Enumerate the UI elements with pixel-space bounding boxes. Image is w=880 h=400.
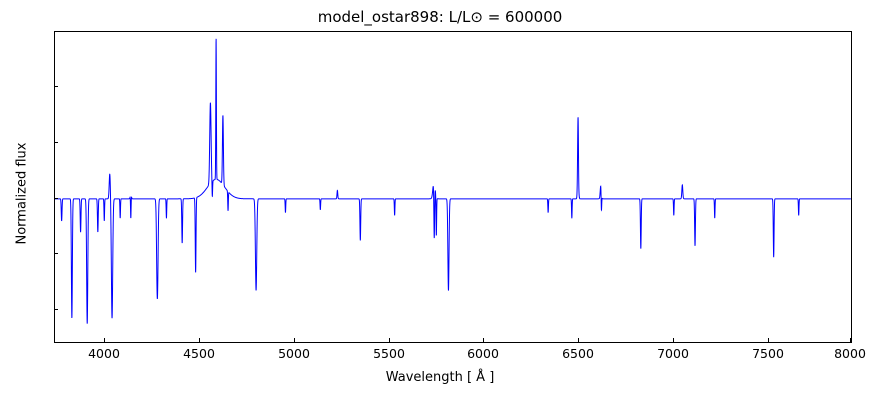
xtick-mark <box>483 338 484 342</box>
ytick-mark <box>54 198 58 199</box>
ytick-mark <box>54 142 58 143</box>
x-axis-label: Wavelength [ Å ] <box>0 370 880 385</box>
xtick-label-4000: 4000 <box>88 346 120 361</box>
xtick-label-4500: 4500 <box>183 346 215 361</box>
xtick-mark <box>673 338 674 342</box>
xtick-mark <box>389 338 390 342</box>
xtick-label-6000: 6000 <box>467 346 499 361</box>
xtick-mark <box>850 338 851 342</box>
xtick-mark <box>294 338 295 342</box>
xtick-label-6500: 6500 <box>562 346 594 361</box>
xtick-label-5000: 5000 <box>278 346 310 361</box>
xtick-mark <box>199 338 200 342</box>
ytick-mark <box>54 86 58 87</box>
ytick-mark <box>54 253 58 254</box>
xtick-label-5500: 5500 <box>373 346 405 361</box>
ytick-mark <box>54 31 58 32</box>
xtick-mark <box>578 338 579 342</box>
xtick-label-7500: 7500 <box>752 346 784 361</box>
y-axis-label: Normalized flux <box>15 94 30 294</box>
axis-tick-layer: 1.6 1.4 1.2 1.0 0.8 0.6 4000 4500 5000 5… <box>0 0 880 400</box>
spectrum-figure: model_ostar898: L/L⊙ = 600000 1.6 1.4 1.… <box>0 0 880 400</box>
xtick-label-8000: 8000 <box>834 346 866 361</box>
xtick-label-7000: 7000 <box>657 346 689 361</box>
xtick-mark <box>104 338 105 342</box>
xtick-mark <box>768 338 769 342</box>
ytick-mark <box>54 309 58 310</box>
